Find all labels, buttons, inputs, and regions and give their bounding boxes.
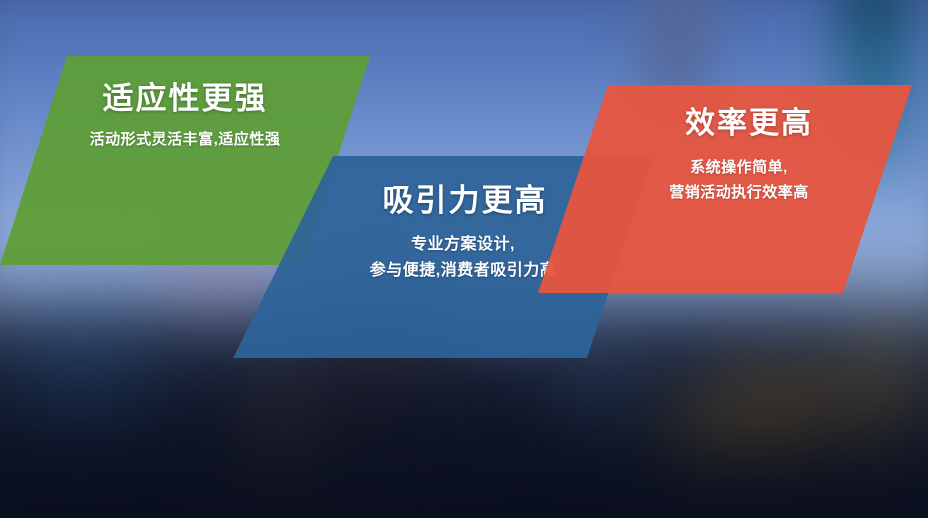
- panel-subtitle-line: 系统操作简单,: [669, 156, 809, 181]
- panel-subtitle-efficiency: 系统操作简单, 营销活动执行效率高: [669, 156, 809, 206]
- panel-subtitle-line: 专业方案设计,: [370, 232, 556, 258]
- banner-stage: 适应性更强 活动形式灵活丰富,适应性强 吸引力更高 专业方案设计, 参与便捷,消…: [0, 0, 928, 518]
- panel-subtitle-line: 活动形式灵活丰富,适应性强: [0, 128, 370, 149]
- panel-title-attractiveness: 吸引力更高: [383, 184, 548, 218]
- panel-subtitle-line: 营销活动执行效率高: [669, 181, 809, 206]
- panel-title-efficiency: 效率更高: [685, 107, 813, 140]
- panel-subtitle-attractiveness: 专业方案设计, 参与便捷,消费者吸引力高: [370, 232, 556, 285]
- feature-panel-efficiency[interactable]: 效率更高 系统操作简单, 营销活动执行效率高: [538, 85, 912, 293]
- panel-title-adaptability: 适应性更强: [0, 82, 370, 116]
- panel-subtitle-adaptability: 活动形式灵活丰富,适应性强: [0, 128, 370, 149]
- panel-subtitle-line: 参与便捷,消费者吸引力高: [370, 258, 556, 284]
- panel-content-efficiency: 效率更高 系统操作简单, 营销活动执行效率高: [538, 85, 912, 293]
